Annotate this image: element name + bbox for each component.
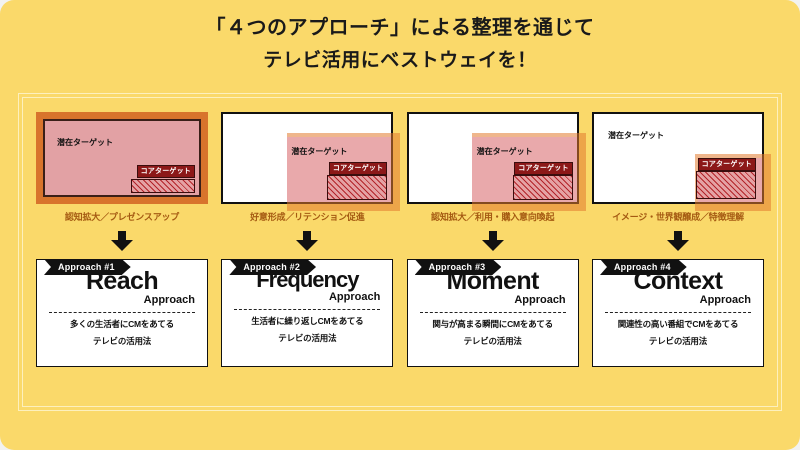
core-target-label: コアターゲット xyxy=(514,162,572,175)
approach-ribbon: Approach #3 xyxy=(415,259,502,275)
approach-desc-line-1: 多くの生活者にCMをあてる xyxy=(47,320,197,329)
approach-desc-line-1: 関連性の高い番組でCMをあてる xyxy=(603,320,753,329)
slide-canvas: 「４つのアプローチ」による整理を通じて テレビ活用にベストウェイを！ 潜在ターゲ… xyxy=(0,0,800,450)
approach-subtitle: Approach xyxy=(47,295,197,306)
approach-desc-line-1: 関与が高まる瞬間にCMをあてる xyxy=(418,320,568,329)
approach-column: 潜在ターゲット コアターゲット 好意形成／リテンション促進 Approach #… xyxy=(221,112,393,392)
down-arrow-icon xyxy=(482,231,504,251)
down-arrow-icon xyxy=(296,231,318,251)
approach-card[interactable]: Approach #1 Reach Approach 多くの生活者にCMをあてる… xyxy=(36,259,208,367)
down-arrow-icon xyxy=(111,231,133,251)
column-caption: 認知拡大／プレゼンスアップ xyxy=(36,213,208,222)
core-target-hatch xyxy=(696,171,756,199)
approach-desc-line-2: テレビの活用法 xyxy=(603,337,753,346)
diagram-frame: 潜在ターゲット コアターゲット xyxy=(592,112,764,204)
approach-subtitle: Approach xyxy=(232,292,382,303)
approach-column: 潜在ターゲット コアターゲット 認知拡大／利用・購入意向喚起 Approach … xyxy=(407,112,579,392)
diagram-frame: 潜在ターゲット コアターゲット xyxy=(36,112,208,204)
core-target-hatch xyxy=(327,175,387,200)
approach-card-body: Reach Approach 多くの生活者にCMをあてる テレビの活用法 xyxy=(36,259,208,367)
card-divider xyxy=(49,312,195,313)
approach-card[interactable]: Approach #3 Moment Approach 関与が高まる瞬間にCMを… xyxy=(407,259,579,367)
approach-ribbon: Approach #4 xyxy=(600,259,687,275)
target-diagram: 潜在ターゲット コアターゲット xyxy=(221,112,393,204)
approach-column: 潜在ターゲット コアターゲット 認知拡大／プレゼンスアップ Approach #… xyxy=(36,112,208,392)
approach-card[interactable]: Approach #2 Frequency Approach 生活者に繰り返しC… xyxy=(221,259,393,367)
potential-target-label: 潜在ターゲット xyxy=(477,148,533,156)
approach-columns: 潜在ターゲット コアターゲット 認知拡大／プレゼンスアップ Approach #… xyxy=(36,112,764,392)
column-caption: 認知拡大／利用・購入意向喚起 xyxy=(407,213,579,222)
approach-desc-line-2: テレビの活用法 xyxy=(418,337,568,346)
core-target-label: コアターゲット xyxy=(698,158,756,171)
approach-desc-line-1: 生活者に繰り返しCMをあてる xyxy=(232,317,382,326)
core-target-hatch xyxy=(131,179,195,193)
target-diagram: 潜在ターゲット コアターゲット xyxy=(592,112,764,204)
core-target-label: コアターゲット xyxy=(137,165,195,178)
core-target-label: コアターゲット xyxy=(329,162,387,175)
potential-target-label: 潜在ターゲット xyxy=(57,139,113,147)
approach-ribbon: Approach #2 xyxy=(229,259,316,275)
diagram-inner: 潜在ターゲット コアターゲット xyxy=(221,112,393,204)
column-caption: 好意形成／リテンション促進 xyxy=(221,213,393,222)
down-arrow-icon xyxy=(667,231,689,251)
approach-column: 潜在ターゲット コアターゲット イメージ・世界観醸成／特徴理解 Approach… xyxy=(592,112,764,392)
slide-title: 「４つのアプローチ」による整理を通じて テレビ活用にベストウェイを！ xyxy=(0,18,800,70)
approach-desc-line-2: テレビの活用法 xyxy=(47,337,197,346)
potential-target-label: 潜在ターゲット xyxy=(291,148,347,156)
diagram-inner: 潜在ターゲット コアターゲット xyxy=(43,119,201,197)
title-line-2: テレビ活用にベストウェイを！ xyxy=(0,51,800,70)
card-divider xyxy=(605,312,751,313)
card-divider xyxy=(420,312,566,313)
approach-subtitle: Approach xyxy=(418,295,568,306)
title-line-1: 「４つのアプローチ」による整理を通じて xyxy=(0,18,800,38)
card-divider xyxy=(234,309,380,310)
approach-card-body: Context Approach 関連性の高い番組でCMをあてる テレビの活用法 xyxy=(592,259,764,367)
potential-target-label: 潜在ターゲット xyxy=(608,132,664,140)
approach-ribbon: Approach #1 xyxy=(44,259,131,275)
approach-card[interactable]: Approach #4 Context Approach 関連性の高い番組でCM… xyxy=(592,259,764,367)
approach-subtitle: Approach xyxy=(603,295,753,306)
diagram-inner: 潜在ターゲット コアターゲット xyxy=(592,112,764,204)
diagram-frame: 潜在ターゲット コアターゲット xyxy=(221,112,393,204)
target-diagram: 潜在ターゲット コアターゲット xyxy=(36,112,208,204)
core-target-hatch xyxy=(513,175,573,200)
diagram-inner: 潜在ターゲット コアターゲット xyxy=(407,112,579,204)
diagram-frame: 潜在ターゲット コアターゲット xyxy=(407,112,579,204)
target-diagram: 潜在ターゲット コアターゲット xyxy=(407,112,579,204)
approach-card-body: Frequency Approach 生活者に繰り返しCMをあてる テレビの活用… xyxy=(221,259,393,367)
column-caption: イメージ・世界観醸成／特徴理解 xyxy=(592,213,764,222)
approach-card-body: Moment Approach 関与が高まる瞬間にCMをあてる テレビの活用法 xyxy=(407,259,579,367)
approach-desc-line-2: テレビの活用法 xyxy=(232,334,382,343)
